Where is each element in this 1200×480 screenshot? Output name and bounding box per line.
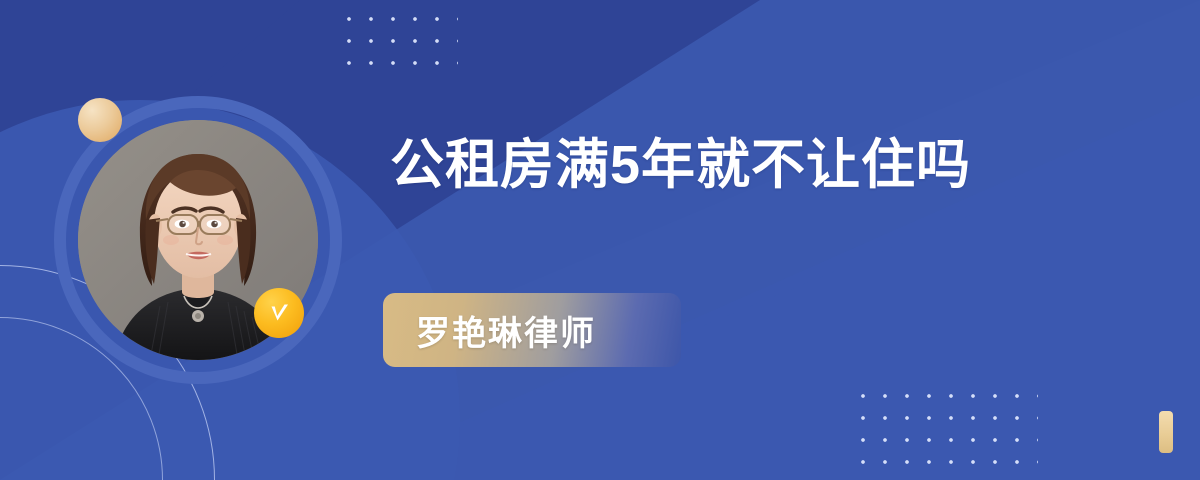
gold-accent-bar xyxy=(1159,411,1173,453)
gold-circle-decor-icon xyxy=(78,98,122,142)
verified-badge-icon xyxy=(254,288,304,338)
avatar xyxy=(54,96,342,384)
lawyer-name-plate: 罗艳琳律师 xyxy=(383,293,681,367)
lawyer-name-label: 罗艳琳律师 xyxy=(416,306,596,355)
dot-grid-top-icon xyxy=(336,6,458,66)
page-title: 公租房满5年就不让住吗 xyxy=(390,129,971,201)
dot-grid-bottom-icon xyxy=(850,383,1038,467)
legal-qa-banner: 公租房满5年就不让住吗 罗艳琳律师 xyxy=(0,0,1200,480)
